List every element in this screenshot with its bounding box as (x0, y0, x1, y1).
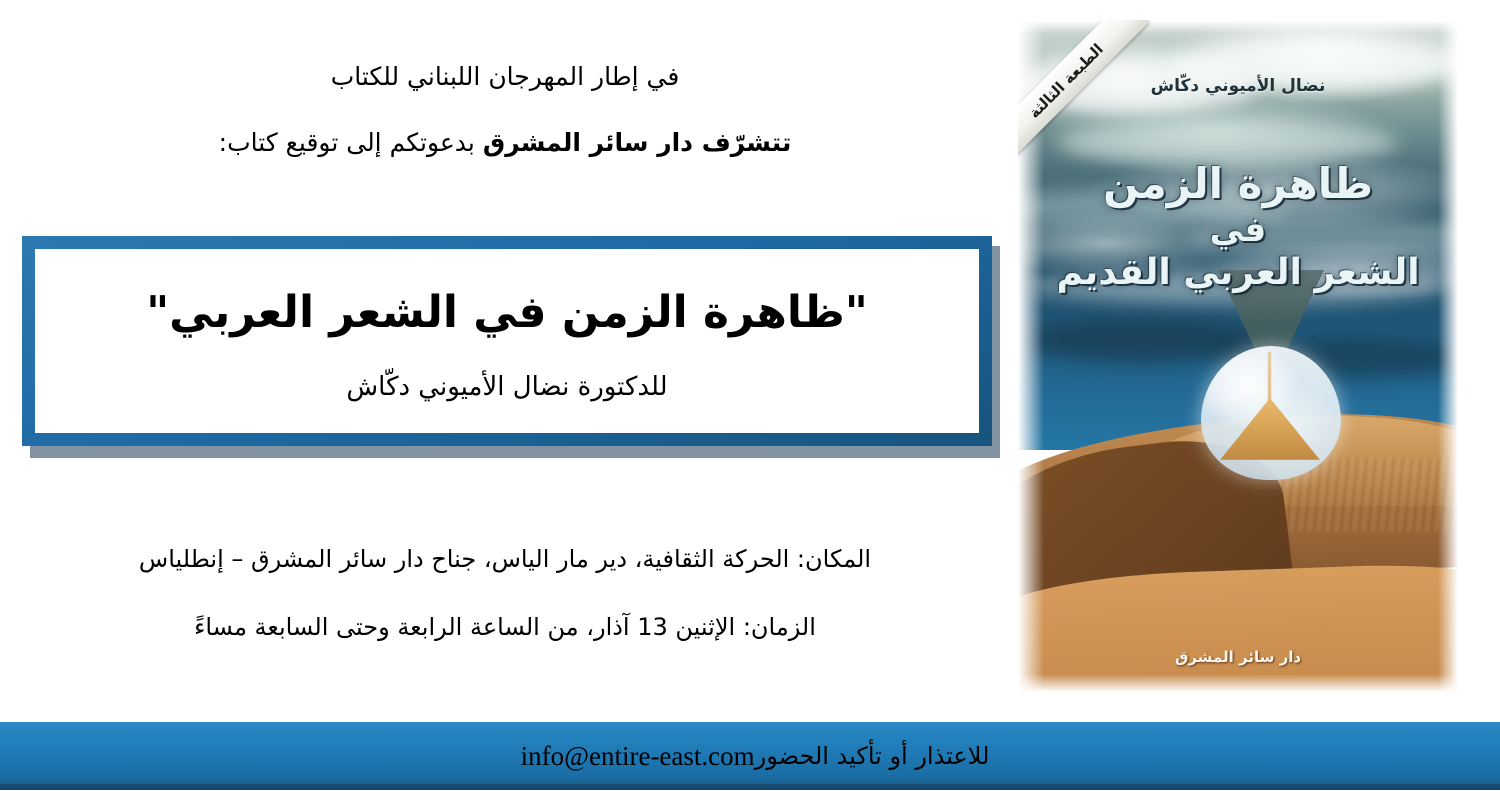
hourglass-icon (1196, 270, 1346, 500)
publisher-invitation-line: تتشرّف دار سائر المشرق بدعوتكم إلى توقيع… (0, 128, 1010, 157)
rsvp-label: للاعتذار أو تأكيد الحضور (755, 742, 990, 770)
contact-email[interactable]: info@entire-east.com (521, 741, 755, 772)
hourglass-sand-stream (1268, 352, 1271, 402)
cover-title-line-2: في (1018, 211, 1458, 250)
publisher-name: تتشرّف دار سائر المشرق (483, 128, 792, 157)
footer-contact: للاعتذار أو تأكيد الحضور info@entire-eas… (0, 722, 1500, 790)
book-author-line: للدكتورة نضال الأميوني دكّاش (346, 372, 667, 402)
book-title-box: "ظاهرة الزمن في الشعر العربي" للدكتورة ن… (22, 236, 992, 452)
poster-page: في إطار المهرجان اللبناني للكتاب تتشرّف … (0, 0, 1500, 800)
title-box-frame: "ظاهرة الزمن في الشعر العربي" للدكتورة ن… (22, 236, 992, 446)
event-location-line: المكان: الحركة الثقافية، دير مار الياس، … (0, 545, 1010, 573)
cover-title: ظاهرة الزمن في الشعر العربي القديم (1018, 160, 1458, 294)
title-box-inner: "ظاهرة الزمن في الشعر العربي" للدكتورة ن… (35, 249, 979, 433)
dune-near (1018, 561, 1458, 692)
cover-title-line-1: ظاهرة الزمن (1018, 160, 1458, 209)
book-cover-image: نضال الأميوني دكّاش ظاهرة الزمن في الشعر… (1018, 20, 1458, 692)
invitation-rest: بدعوتكم إلى توقيع كتاب: (219, 128, 483, 157)
invitation-content-column: في إطار المهرجان اللبناني للكتاب تتشرّف … (0, 0, 1010, 720)
page-title: "ظاهرة الزمن في الشعر العربي" (146, 287, 868, 338)
cover-publisher-name: دار سائر المشرق (1018, 648, 1458, 666)
cover-title-line-3: الشعر العربي القديم (1018, 252, 1458, 294)
festival-context-line: في إطار المهرجان اللبناني للكتاب (0, 62, 1010, 91)
event-time-line: الزمان: الإثنين 13 آذار، من الساعة الراب… (0, 613, 1010, 641)
